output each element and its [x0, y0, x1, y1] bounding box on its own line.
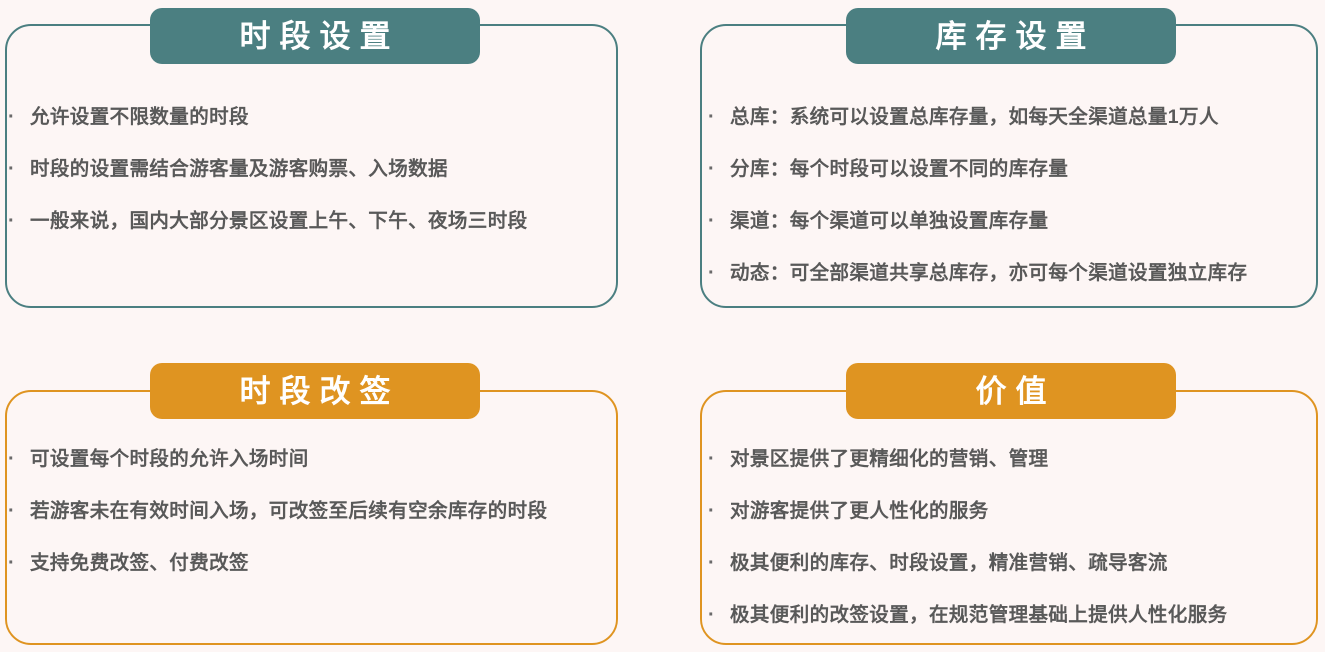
bullet-dot-icon: ·: [8, 208, 30, 234]
bullet-dot-icon: ·: [708, 602, 730, 628]
list-item: · 极其便利的改签设置，在规范管理基础上提供人性化服务: [708, 602, 1313, 628]
bullet-list-stock-setting: · 总库：系统可以设置总库存量，如每天全渠道总量1万人 · 分库：每个时段可以设…: [708, 104, 1313, 286]
bullet-list-period-change: · 可设置每个时段的允许入场时间 · 若游客未在有效时间入场，可改签至后续有空余…: [8, 446, 608, 576]
bullet-dot-icon: ·: [708, 104, 730, 130]
list-item-text: 分库：每个时段可以设置不同的库存量: [730, 156, 1313, 182]
list-item-text: 支持免费改签、付费改签: [30, 550, 608, 576]
list-item-text: 一般来说，国内大部分景区设置上午、下午、夜场三时段: [30, 208, 608, 234]
list-item: · 动态：可全部渠道共享总库存，亦可每个渠道设置独立库存: [708, 260, 1313, 286]
list-item-text: 对游客提供了更人性化的服务: [730, 498, 1313, 524]
panel-title-period-setting: 时段设置: [150, 8, 480, 64]
list-item-text: 极其便利的改签设置，在规范管理基础上提供人性化服务: [730, 602, 1313, 628]
list-item: · 若游客未在有效时间入场，可改签至后续有空余库存的时段: [8, 498, 608, 524]
bullet-dot-icon: ·: [708, 156, 730, 182]
list-item: · 一般来说，国内大部分景区设置上午、下午、夜场三时段: [8, 208, 608, 234]
list-item-text: 渠道：每个渠道可以单独设置库存量: [730, 208, 1313, 234]
bullet-dot-icon: ·: [708, 208, 730, 234]
bullet-dot-icon: ·: [708, 260, 730, 286]
panel-title-stock-setting: 库存设置: [846, 8, 1176, 64]
list-item: · 对游客提供了更人性化的服务: [708, 498, 1313, 524]
list-item: · 渠道：每个渠道可以单独设置库存量: [708, 208, 1313, 234]
slide-board: 时段设置 · 允许设置不限数量的时段 · 时段的设置需结合游客量及游客购票、入场…: [0, 0, 1325, 652]
list-item: · 允许设置不限数量的时段: [8, 104, 608, 130]
panel-title-period-change: 时段改签: [150, 363, 480, 419]
bullet-list-value: · 对景区提供了更精细化的营销、管理 · 对游客提供了更人性化的服务 · 极其便…: [708, 446, 1313, 628]
bullet-dot-icon: ·: [8, 498, 30, 524]
list-item: · 极其便利的库存、时段设置，精准营销、疏导客流: [708, 550, 1313, 576]
bullet-dot-icon: ·: [708, 446, 730, 472]
bullet-dot-icon: ·: [8, 550, 30, 576]
list-item-text: 若游客未在有效时间入场，可改签至后续有空余库存的时段: [30, 498, 608, 524]
list-item-text: 允许设置不限数量的时段: [30, 104, 608, 130]
list-item-text: 动态：可全部渠道共享总库存，亦可每个渠道设置独立库存: [730, 260, 1313, 286]
bullet-dot-icon: ·: [8, 446, 30, 472]
list-item-text: 对景区提供了更精细化的营销、管理: [730, 446, 1313, 472]
list-item-text: 总库：系统可以设置总库存量，如每天全渠道总量1万人: [730, 104, 1313, 130]
list-item: · 可设置每个时段的允许入场时间: [8, 446, 608, 472]
list-item: · 总库：系统可以设置总库存量，如每天全渠道总量1万人: [708, 104, 1313, 130]
bullet-dot-icon: ·: [708, 498, 730, 524]
list-item: · 时段的设置需结合游客量及游客购票、入场数据: [8, 156, 608, 182]
bullet-list-period-setting: · 允许设置不限数量的时段 · 时段的设置需结合游客量及游客购票、入场数据 · …: [8, 104, 608, 234]
bullet-dot-icon: ·: [8, 156, 30, 182]
list-item-text: 极其便利的库存、时段设置，精准营销、疏导客流: [730, 550, 1313, 576]
list-item-text: 可设置每个时段的允许入场时间: [30, 446, 608, 472]
list-item: · 对景区提供了更精细化的营销、管理: [708, 446, 1313, 472]
bullet-dot-icon: ·: [8, 104, 30, 130]
panel-title-value: 价值: [846, 363, 1176, 419]
list-item-text: 时段的设置需结合游客量及游客购票、入场数据: [30, 156, 608, 182]
list-item: · 支持免费改签、付费改签: [8, 550, 608, 576]
list-item: · 分库：每个时段可以设置不同的库存量: [708, 156, 1313, 182]
bullet-dot-icon: ·: [708, 550, 730, 576]
